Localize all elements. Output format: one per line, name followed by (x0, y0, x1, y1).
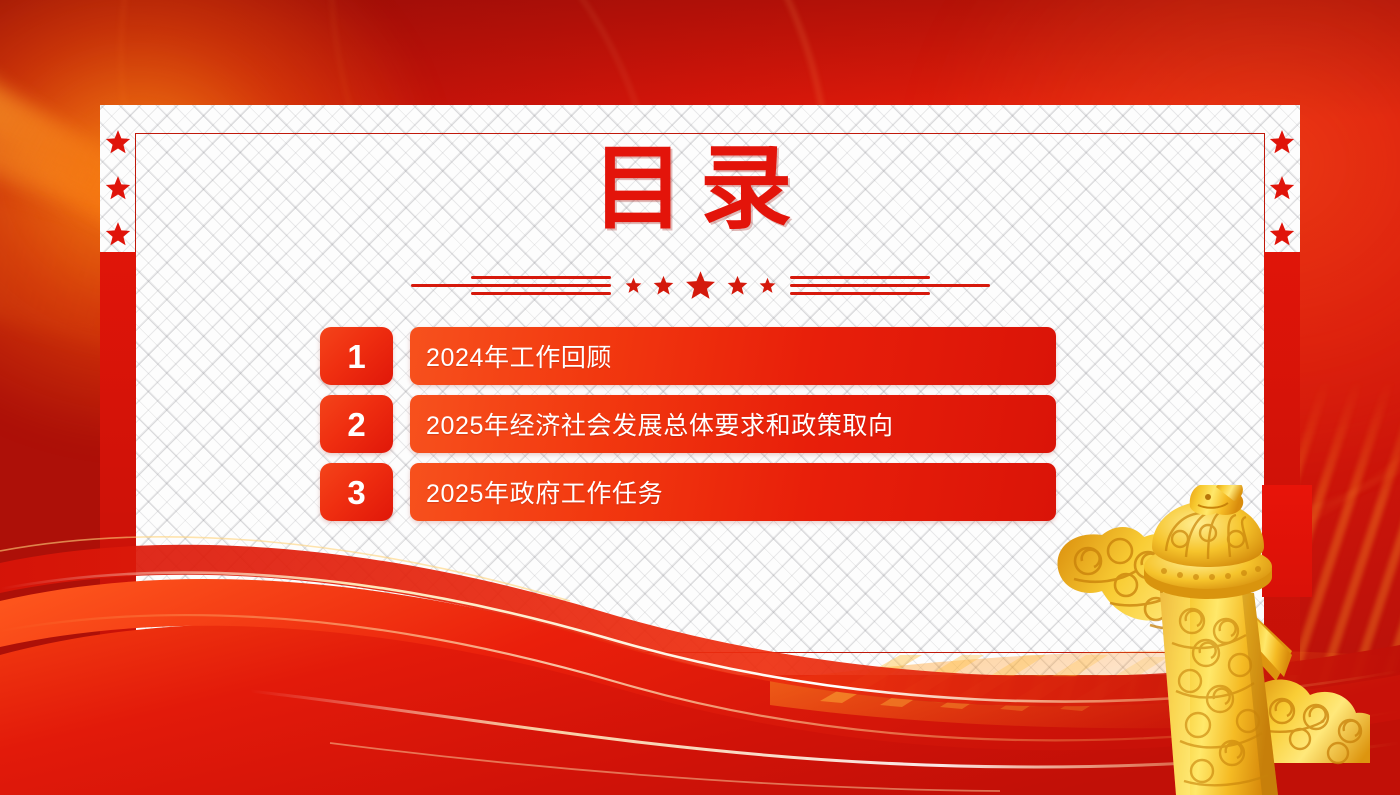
star-icon (653, 275, 674, 296)
slide-canvas: 目录 1 (0, 0, 1400, 795)
divider-star-group (625, 270, 776, 301)
star-icon (685, 270, 716, 301)
star-icon (759, 277, 776, 294)
divider-line (790, 276, 930, 279)
toc-item-1[interactable]: 1 2024年工作回顾 (320, 327, 1080, 385)
divider-line (471, 292, 611, 295)
divider-line (471, 276, 611, 279)
divider-line (790, 292, 930, 295)
divider-line (790, 284, 990, 287)
toc-item-number: 2 (320, 395, 393, 453)
huabiao-column-icon (1040, 485, 1370, 795)
toc-item-label: 2024年工作回顾 (426, 338, 612, 374)
toc-list: 1 2024年工作回顾 2 2025年经济社会发展总体要求和政策取向 3 202… (320, 327, 1080, 531)
toc-item-bar[interactable]: 2025年经济社会发展总体要求和政策取向 (410, 395, 1056, 453)
toc-item-bar[interactable]: 2024年工作回顾 (410, 327, 1056, 385)
divider-line (411, 284, 611, 287)
star-icon (625, 277, 642, 294)
page-title: 目录 (100, 143, 1300, 235)
toc-item-label: 2025年经济社会发展总体要求和政策取向 (426, 406, 894, 442)
star-icon (727, 275, 748, 296)
decorative-divider (100, 265, 1300, 305)
divider-lines-right (790, 272, 990, 298)
divider-lines-left (411, 272, 611, 298)
toc-item-number: 1 (320, 327, 393, 385)
toc-item-2[interactable]: 2 2025年经济社会发展总体要求和政策取向 (320, 395, 1080, 453)
